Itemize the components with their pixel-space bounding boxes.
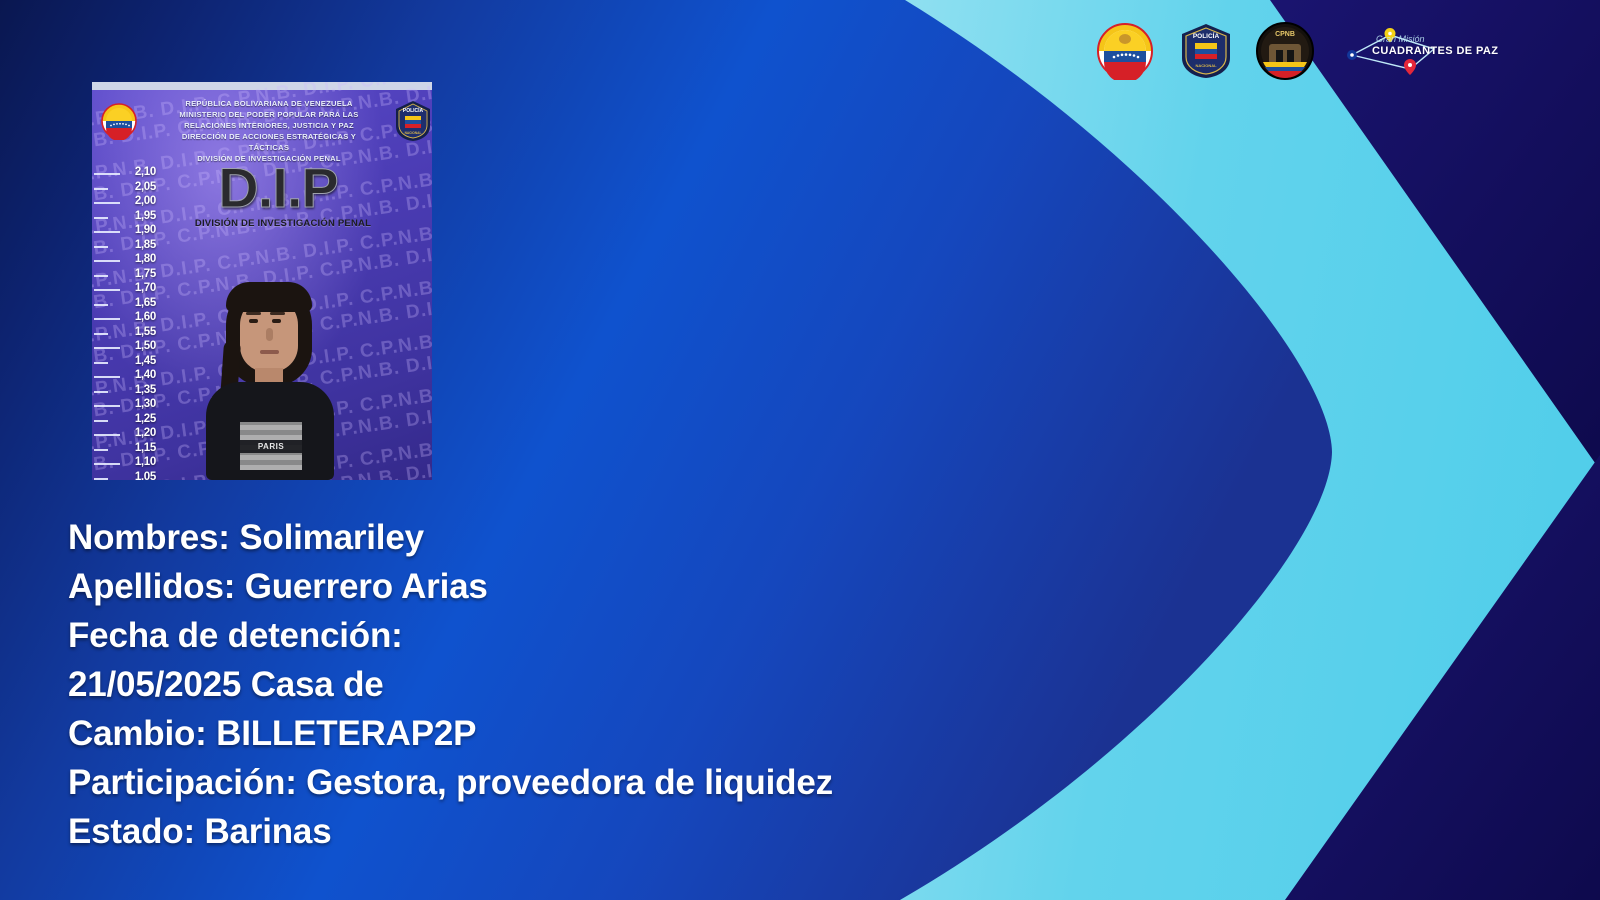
agency-logo-row: POLICÍA NACIONAL CPNB [1094, 22, 1468, 80]
mppr-seal-logo [1094, 22, 1156, 80]
cdp-sublabel: Gran Misión [1376, 34, 1425, 44]
mugshot-header-line: RELACIONES INTERIORES, JUSTICIA Y PAZ [164, 120, 374, 131]
scale-label: 1,55 [135, 326, 156, 338]
subject-shirt-text: PARIS [240, 440, 302, 453]
subject-eye-left [249, 319, 258, 323]
police-badge-icon: POLICÍA NACIONAL [1180, 22, 1232, 80]
scale-tick [94, 289, 120, 291]
scale-row: 1,60 [94, 312, 156, 327]
subject-hair-front [226, 282, 312, 312]
scale-tick [94, 231, 120, 233]
scale-label: 1,05 [135, 471, 156, 481]
scale-row: 1,90 [94, 225, 156, 240]
scale-row: 1,25 [94, 414, 156, 429]
scale-label: 2,00 [135, 195, 156, 207]
scale-label: 1,95 [135, 210, 156, 222]
detail-line: Participación: Gestora, proveedora de li… [68, 758, 1068, 807]
scale-row: 1,95 [94, 211, 156, 226]
scale-tick [94, 478, 108, 480]
cuadrantes-de-paz-logo: Gran Misión CUADRANTES DE PAZ [1338, 25, 1468, 77]
scale-tick [94, 260, 120, 262]
scale-row: 1,05 [94, 472, 156, 481]
subject-mouth [260, 350, 279, 354]
scale-tick [94, 347, 120, 349]
scale-label: 1,90 [135, 224, 156, 236]
dip-wordmark-subtitle: DIVISIÓN DE INVESTIGACIÓN PENAL [188, 218, 378, 229]
scale-row: 1,50 [94, 341, 156, 356]
subject-nose [266, 328, 273, 341]
scale-row: 1,80 [94, 254, 156, 269]
scale-row: 2,00 [94, 196, 156, 211]
scale-label: 1,70 [135, 282, 156, 294]
scale-tick [94, 362, 108, 364]
mugshot-header-line: DIRECCIÓN DE ACCIONES ESTRATÉGICAS Y TÁC… [164, 131, 374, 153]
scale-label: 1,75 [135, 268, 156, 280]
scale-tick [94, 217, 108, 219]
scale-label: 1,65 [135, 297, 156, 309]
scale-tick [94, 188, 108, 190]
scale-tick [94, 449, 108, 451]
scale-tick [94, 434, 120, 436]
mugshot-header-line: REPÚBLICA BOLIVARIANA DE VENEZUELA [164, 98, 374, 109]
subject-brow-left [246, 312, 261, 315]
subject-eye-right [272, 319, 281, 323]
scale-tick [94, 304, 108, 306]
svg-text:POLICÍA: POLICÍA [1193, 31, 1220, 40]
scale-row: 1,55 [94, 327, 156, 342]
svg-text:POLICÍA: POLICÍA [403, 106, 424, 114]
mugshot-agency-header: REPÚBLICA BOLIVARIANA DE VENEZUELAMINIST… [164, 98, 374, 164]
detainee-details-block: Nombres: SolimarileyApellidos: Guerrero … [68, 513, 1068, 856]
scale-row: 1,40 [94, 370, 156, 385]
scale-label: 2,10 [135, 166, 156, 178]
dip-wordmark: D.I.P [188, 160, 368, 216]
detail-line: Estado: Barinas [68, 807, 1068, 856]
scale-label: 1,50 [135, 340, 156, 352]
cpnb-dip-emblem-logo: CPNB [1256, 22, 1314, 80]
scale-tick [94, 246, 108, 248]
scale-tick [94, 333, 108, 335]
mppr-seal-icon [1094, 22, 1156, 80]
scale-label: 1,85 [135, 239, 156, 251]
mugshot-header-line: MINISTERIO DEL PODER POPULAR PARA LAS [164, 109, 374, 120]
svg-text:CPNB: CPNB [1275, 31, 1295, 38]
subject-brow-right [270, 312, 285, 315]
scale-row: 1,75 [94, 269, 156, 284]
scale-label: 1,40 [135, 369, 156, 381]
height-measurement-scale: 2,102,052,001,951,901,851,801,751,701,65… [94, 167, 156, 480]
mugshot-police-badge-icon: POLICÍA NACIONAL [394, 100, 432, 142]
scale-tick [94, 405, 120, 407]
scale-row: 1,15 [94, 443, 156, 458]
scale-label: 1,35 [135, 384, 156, 396]
scale-label: 1,15 [135, 442, 156, 454]
pnb-badge-logo: POLICÍA NACIONAL [1180, 22, 1232, 80]
scale-label: 1,25 [135, 413, 156, 425]
detainee-photo-figure: PARIS [200, 282, 340, 480]
scale-label: 1,30 [135, 398, 156, 410]
scale-label: 1,45 [135, 355, 156, 367]
scale-tick [94, 275, 108, 277]
scale-label: 1,10 [135, 456, 156, 468]
scale-row: 1,20 [94, 428, 156, 443]
mugshot-venezuela-seal-icon [100, 102, 138, 140]
scale-row: 1,45 [94, 356, 156, 371]
detail-line: Apellidos: Guerrero Arias [68, 562, 1068, 611]
detail-line: Nombres: Solimariley [68, 513, 1068, 562]
scale-tick [94, 420, 108, 422]
scale-label: 1,80 [135, 253, 156, 265]
scale-label: 1,60 [135, 311, 156, 323]
scale-label: 1,20 [135, 427, 156, 439]
detail-line: Cambio: BILLETERAP2P [68, 709, 1068, 758]
scale-label: 2,05 [135, 181, 156, 193]
scale-row: 1,70 [94, 283, 156, 298]
scale-tick [94, 173, 120, 175]
scale-tick [94, 376, 120, 378]
scale-row: 2,10 [94, 167, 156, 182]
scale-row: 1,65 [94, 298, 156, 313]
svg-text:NACIONAL: NACIONAL [405, 131, 422, 135]
scale-row: 1,35 [94, 385, 156, 400]
cdp-label: CUADRANTES DE PAZ [1372, 45, 1498, 57]
scale-row: 1,10 [94, 457, 156, 472]
scale-row: 1,85 [94, 240, 156, 255]
mugshot-photo-card: C.P.N.B. D.I.P. C.P.N.B. D.I.P. C.P.N.B.… [92, 82, 432, 480]
scale-tick [94, 463, 120, 465]
scale-tick [94, 391, 108, 393]
cpnb-dip-emblem-icon: CPNB [1256, 22, 1314, 80]
scale-tick [94, 202, 120, 204]
scale-row: 2,05 [94, 182, 156, 197]
svg-text:NACIONAL: NACIONAL [1195, 63, 1217, 68]
detail-line: Fecha de detención: [68, 611, 1068, 660]
scale-row: 1,30 [94, 399, 156, 414]
poster-canvas: POLICÍA NACIONAL CPNB [0, 0, 1600, 900]
detail-line: 21/05/2025 Casa de [68, 660, 1068, 709]
scale-tick [94, 318, 120, 320]
